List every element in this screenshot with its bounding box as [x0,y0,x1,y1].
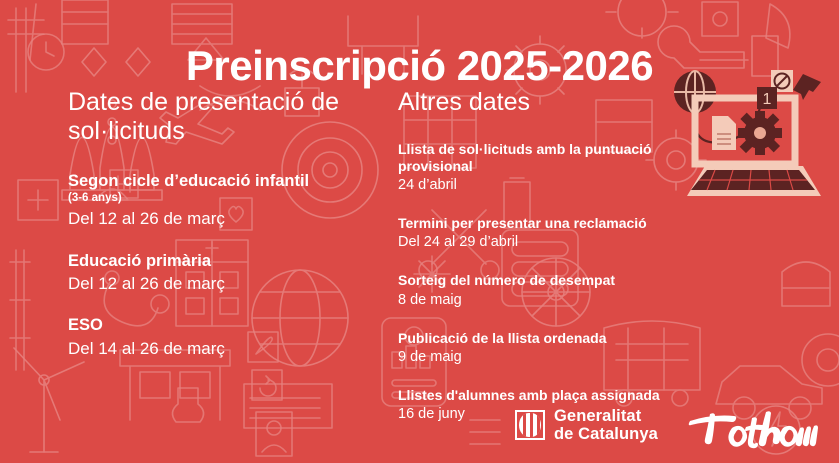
entry-title: Educació primària [68,252,398,271]
entry-date: 9 de maig [398,348,698,366]
right-column-heading: Altres dates [398,88,698,117]
entry-date: Del 24 al 29 d’abril [398,233,698,251]
right-column: Altres dates Llista de sol·licituds amb … [398,88,698,444]
laptop-base [687,166,821,196]
left-entry-infantil: Segon cicle d’educació infantil (3-6 any… [68,172,398,230]
entry-date: Del 12 al 26 de març [68,273,398,294]
document-icon [712,116,736,150]
left-column-heading: Dates de presentació de sol·licituds [68,88,398,146]
generalitat-line1: Generalitat [554,407,658,425]
entry-title: Termini per presentar una reclamació [398,215,698,232]
footer-logos: Generalitat de Catalunya [0,403,839,455]
right-entry-llista-provisional: Llista de sol·licituds amb la puntuació … [398,141,698,194]
laptop-illustration: 1 [665,60,837,208]
entry-title: Publicació de la llista ordenada [398,330,698,347]
badge-1: 1 [757,87,777,109]
left-entry-eso: ESO Del 14 al 26 de març [68,316,398,359]
generalitat-line2: de Catalunya [554,425,658,443]
generalitat-logo: Generalitat de Catalunya [515,407,658,444]
generalitat-shield-icon [515,410,545,440]
entry-subtitle: (3-6 anys) [68,192,398,206]
left-column: Dates de presentació de sol·licituds Seg… [68,88,398,381]
entry-title: Llistes d'alumnes amb plaça assignada [398,387,698,404]
generalitat-wordmark: Generalitat de Catalunya [554,407,658,444]
entry-date: 24 d’abril [398,176,698,194]
entry-title: Sorteig del número de desempat [398,272,698,289]
right-entry-reclamacio: Termini per presentar una reclamació Del… [398,215,698,251]
entry-date: Del 12 al 26 de març [68,208,398,229]
badge-1-label: 1 [763,91,772,108]
right-entry-llista-ordenada: Publicació de la llista ordenada 9 de ma… [398,330,698,366]
entry-title: Llista de sol·licituds amb la puntuació … [398,141,698,175]
tothom-wordmark-glyphs [689,411,818,448]
tothom-logo [688,408,820,450]
entry-date: Del 14 al 26 de març [68,338,398,359]
right-entry-sorteig: Sorteig del número de desempat 8 de maig [398,272,698,308]
entry-date: 8 de maig [398,291,698,309]
gear-icon [738,111,782,155]
preinscripcio-poster: Preinscripció 2025-2026 Dates de present… [0,0,839,463]
entry-title: Segon cicle d’educació infantil [68,172,398,191]
poster-content: Preinscripció 2025-2026 Dates de present… [0,0,839,463]
left-entry-primaria: Educació primària Del 12 al 26 de març [68,252,398,295]
entry-title: ESO [68,316,398,335]
